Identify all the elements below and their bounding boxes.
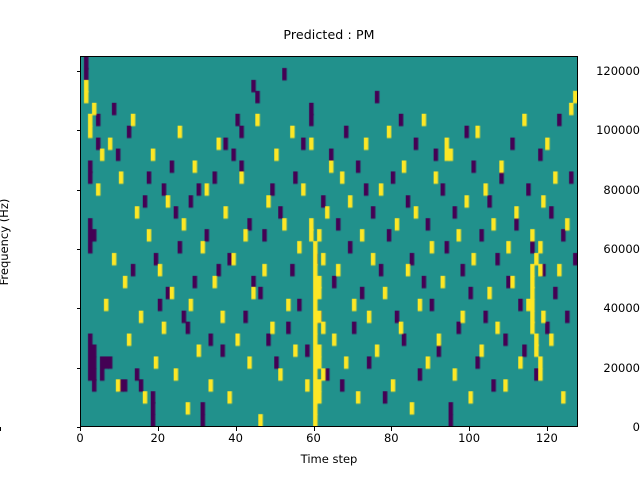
y-tick-label-120000: 120000 xyxy=(572,64,640,78)
heatmap-axes xyxy=(80,56,578,427)
x-tick-label-40: 40 xyxy=(228,431,243,445)
x-tick-mark-60 xyxy=(314,427,315,431)
x-tick-mark-0 xyxy=(80,427,81,431)
y-tick-mark-60000 xyxy=(77,249,81,250)
matplotlib-figure: Predicted : PM 0 20000 40000 60000 80000… xyxy=(0,0,640,480)
x-tick-mark-40 xyxy=(236,427,237,431)
x-tick-mark-120 xyxy=(547,427,548,431)
x-tick-mark-100 xyxy=(469,427,470,431)
x-tick-label-20: 20 xyxy=(150,431,165,445)
x-tick-mark-80 xyxy=(391,427,392,431)
y-tick-label-60000: 60000 xyxy=(572,242,640,256)
x-tick-label-0: 0 xyxy=(76,431,83,445)
y-tick-label-100000: 100000 xyxy=(572,123,640,137)
x-axis-label: Time step xyxy=(80,452,578,466)
x-tick-label-80: 80 xyxy=(384,431,399,445)
y-tick-label-0: 0 xyxy=(572,420,640,434)
x-tick-mark-20 xyxy=(158,427,159,431)
y-tick-mark-80000 xyxy=(77,190,81,191)
y-tick-label-80000: 80000 xyxy=(572,183,640,197)
y-tick-mark-100000 xyxy=(77,130,81,131)
y-tick-label-20000: 20000 xyxy=(572,361,640,375)
y-tick-label-40000: 40000 xyxy=(572,301,640,315)
heatmap-canvas xyxy=(81,57,577,426)
x-tick-mark-spacer xyxy=(0,427,1,431)
x-tick-label-120: 120 xyxy=(536,431,558,445)
chart-title: Predicted : PM xyxy=(80,27,578,42)
y-tick-mark-40000 xyxy=(77,308,81,309)
y-tick-mark-20000 xyxy=(77,368,81,369)
x-tick-label-60: 60 xyxy=(306,431,321,445)
y-axis-label: Frequency (Hz) xyxy=(0,198,11,285)
x-tick-label-100: 100 xyxy=(458,431,480,445)
y-tick-mark-120000 xyxy=(77,71,81,72)
